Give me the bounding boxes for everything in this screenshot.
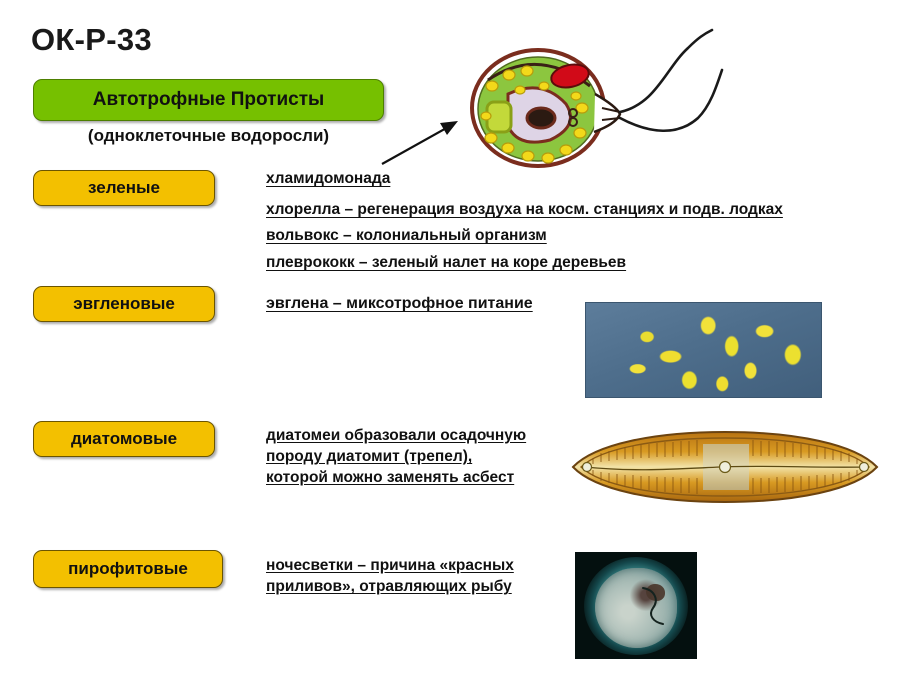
text-diatoms-line-2: породу диатомит (трепел), [266,446,526,467]
group-label-text: зеленые [88,178,160,198]
text-diatoms: диатомеи образовали осадочную породу диа… [266,425,526,488]
main-header-label: Автотрофные Протисты [93,89,325,111]
main-header-box[interactable]: Автотрофные Протисты [33,79,384,121]
page-title: ОК-Р-33 [31,22,152,58]
subtitle-label: (одноклеточные водоросли) [33,126,384,146]
text-chlamydomonas: хламидомонада [266,170,390,188]
noctiluca-tentacle-icon [637,584,675,626]
group-label-diatoms[interactable]: диатомовые [33,421,215,457]
euglena-micrograph [585,302,822,398]
text-pyrophytes: ночесветки – причина «красных приливов»,… [266,555,514,597]
group-label-pyrophytes[interactable]: пирофитовые [33,550,223,588]
slide-canvas: ОК-Р-33 Автотрофные Протисты (одноклеточ… [0,0,910,683]
group-label-euglenoids[interactable]: эвгленовые [33,286,215,322]
group-label-green-algae[interactable]: зеленые [33,170,215,206]
text-diatoms-line-3: которой можно заменять асбест [266,467,526,488]
chlamydomonas-drawing [430,8,770,176]
text-volvox: вольвокс – колониальный организм [266,227,547,245]
group-label-text: диатомовые [71,429,177,449]
text-pyrophytes-line-2: приливов», отравляющих рыбу [266,576,514,597]
text-pleurococcus: плеврококк – зеленый налет на коре дерев… [266,254,626,272]
text-diatoms-line-1: диатомеи образовали осадочную [266,425,526,446]
text-euglena: эвглена – миксотрофное питание [266,295,533,313]
group-label-text: пирофитовые [68,559,188,579]
diatom-drawing [565,422,885,512]
text-pyrophytes-line-1: ночесветки – причина «красных [266,555,514,576]
group-label-text: эвгленовые [73,294,175,314]
text-chlorella: хлорелла – регенерация воздуха на косм. … [266,201,783,219]
noctiluca-micrograph [575,552,697,659]
